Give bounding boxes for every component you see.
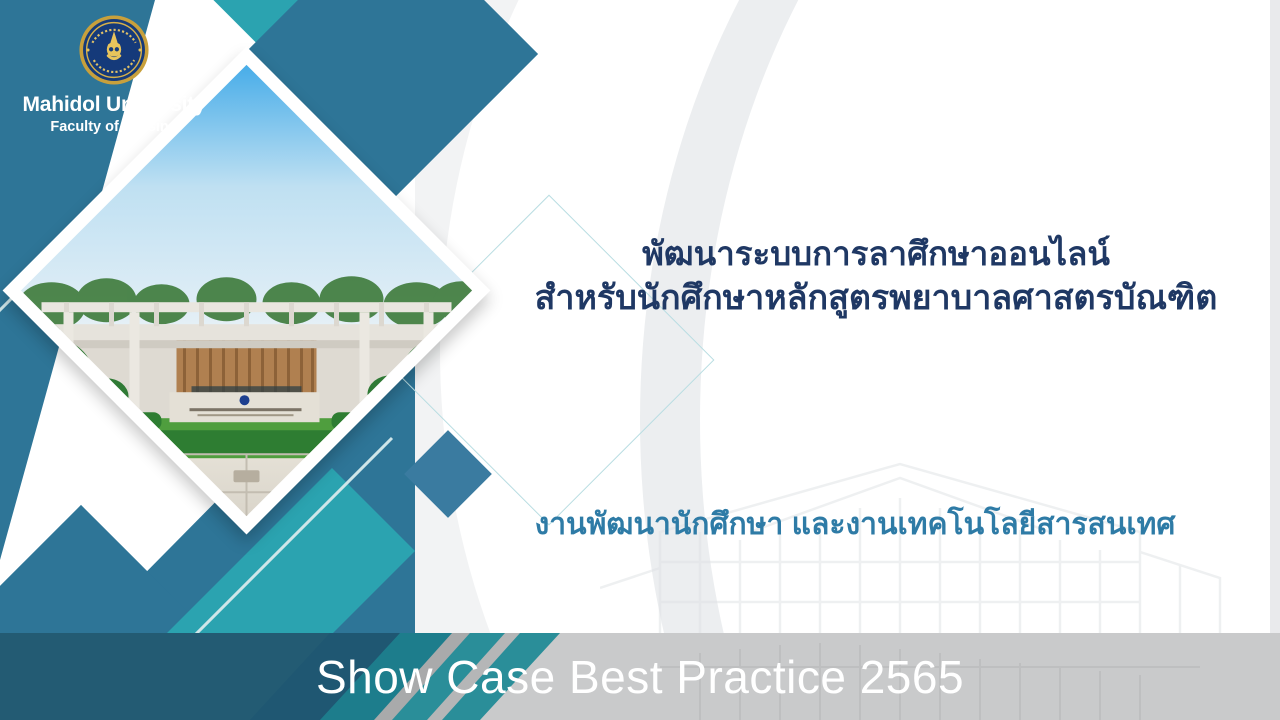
faculty-name: Faculty of Nursing	[18, 120, 210, 136]
slide-subtitle: งานพัฒนานักศึกษา และงานเทคโนโลยีสารสนเทศ	[460, 505, 1250, 544]
bottom-banner: Show Case Best Practice 2565	[0, 633, 1280, 720]
presentation-slide: Mahidol University Faculty of Nursing พั…	[0, 0, 1280, 720]
subtitle-line-1: งานพัฒนานักศึกษา และงานเทคโนโลยีสารสนเทศ	[460, 505, 1250, 544]
title-line-1: พัฒนาระบบการลาศึกษาออนไลน์	[500, 232, 1252, 276]
banner-title: Show Case Best Practice 2565	[0, 633, 1280, 720]
mahidol-logo-block: Mahidol University Faculty of Nursing	[18, 14, 210, 136]
slide-title: พัฒนาระบบการลาศึกษาออนไลน์ สำหรับนักศึกษ…	[500, 232, 1252, 320]
university-name: Mahidol University	[18, 94, 210, 116]
title-line-2: สำหรับนักศึกษาหลักสูตรพยาบาลศาสตรบัณฑิต	[500, 276, 1252, 321]
mahidol-crest-icon	[78, 14, 150, 86]
